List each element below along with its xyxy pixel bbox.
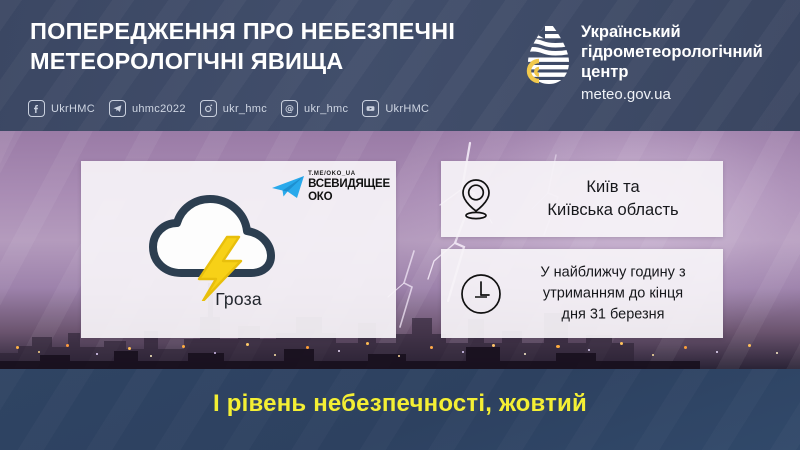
location-line-2: Київська область [513,199,713,222]
social-link-facebook[interactable]: UkrHMC [28,100,95,117]
svg-text:@: @ [285,105,294,114]
youtube-icon [362,100,379,117]
danger-level-text: I рівень небезпечності, жовтий [0,390,800,418]
phenomenon-label: Гроза [81,289,396,310]
header-banner: ПОПЕРЕДЖЕННЯ ПРО НЕБЕЗПЕЧНІ МЕТЕОРОЛОГІЧ… [0,0,800,131]
page-title-line-1: ПОПЕРЕДЖЕННЯ ПРО НЕБЕЗПЕЧНІ [30,16,500,46]
watermark-url: T.ME/OKO_UA [308,170,390,178]
time-line-3: дня 31 березня [513,304,713,325]
water-droplet-logo-icon [515,18,571,90]
organization-logo-block: Український гідрометеорологічний центр m… [515,18,763,105]
map-pin-icon [459,177,493,221]
watermark: T.ME/OKO_UA ВСЕВИДЯЩЕЕ ОКО [271,169,390,203]
social-handle-threads: ukr_hmc [304,103,348,115]
footer-banner: I рівень небезпечності, жовтий [0,369,800,450]
location-text: Київ та Київська область [513,176,713,222]
weather-warning-graphic: ПОПЕРЕДЖЕННЯ ПРО НЕБЕЗПЕЧНІ МЕТЕОРОЛОГІЧ… [0,0,800,450]
social-link-telegram[interactable]: uhmc2022 [109,100,186,117]
watermark-name-line-1: ВСЕВИДЯЩЕЕ [308,178,390,191]
telegram-icon [109,100,126,117]
social-handle-instagram: ukr_hmc [223,103,267,115]
org-name-line-2: гідрометеорологічний [581,42,763,62]
watermark-name-line-2: ОКО [308,191,390,204]
time-period-card: У найближчу годину з утриманням до кінця… [441,249,723,338]
weather-phenomenon-card: Гроза T.ME/OKO_UA ВСЕВИДЯЩЕЕ ОКО [81,161,396,338]
location-line-1: Київ та [513,176,713,199]
thunderstorm-cloud-lightning-icon [141,189,291,301]
org-website[interactable]: meteo.gov.ua [581,85,763,105]
instagram-icon [200,100,217,117]
social-link-instagram[interactable]: ukr_hmc [200,100,267,117]
page-title: ПОПЕРЕДЖЕННЯ ПРО НЕБЕЗПЕЧНІ МЕТЕОРОЛОГІЧ… [30,16,500,76]
social-links-row: UkrHMC uhmc2022 ukr_hmc @ [28,100,443,117]
page-title-line-2: МЕТЕОРОЛОГІЧНІ ЯВИЩА [30,46,500,76]
location-card: Київ та Київська область [441,161,723,237]
social-link-youtube[interactable]: UkrHMC [362,100,429,117]
telegram-plane-icon [271,175,305,201]
time-line-2: утриманням до кінця [513,283,713,304]
org-name-line-3: центр [581,62,763,82]
social-handle-facebook: UkrHMC [51,103,95,115]
social-handle-telegram: uhmc2022 [132,103,186,115]
clock-icon [459,272,503,316]
threads-icon: @ [281,100,298,117]
time-period-text: У найближчу годину з утриманням до кінця… [513,262,713,325]
social-handle-youtube: UkrHMC [385,103,429,115]
time-line-1: У найближчу годину з [513,262,713,283]
social-link-threads[interactable]: @ ukr_hmc [281,100,348,117]
org-name-line-1: Український [581,22,763,42]
facebook-icon [28,100,45,117]
